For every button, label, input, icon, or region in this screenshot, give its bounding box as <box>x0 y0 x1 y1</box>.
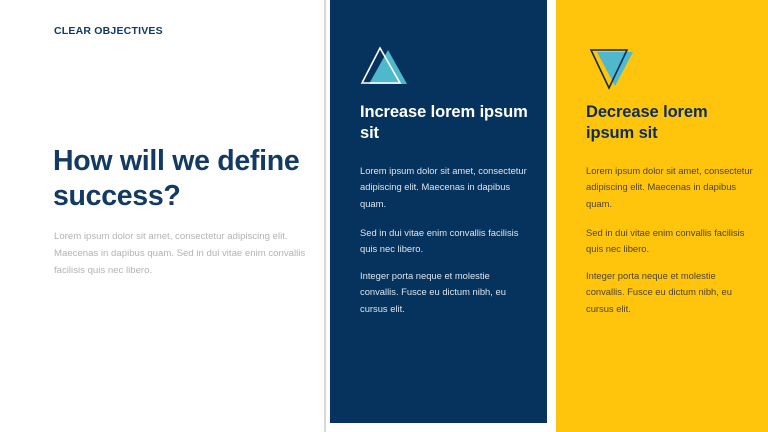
panel-decrease: Decrease lorem ipsum sit Lorem ipsum dol… <box>556 0 768 432</box>
paragraph-text: Lorem ipsum dolor sit amet, consectetur … <box>586 163 756 212</box>
triangle-down-icon <box>586 42 646 94</box>
column-divider <box>324 0 326 432</box>
paragraph-text: Lorem ipsum dolor sit amet, consectetur … <box>360 163 530 212</box>
page-title: How will we define success? <box>53 144 313 214</box>
eyebrow-label: CLEAR OBJECTIVES <box>54 25 163 38</box>
panel-increase-title: Increase lorem ipsum sit <box>360 102 532 143</box>
paragraph-text: Sed in dui vitae enim convallis facilisi… <box>586 225 756 258</box>
slide-canvas: CLEAR OBJECTIVES How will we define succ… <box>0 0 768 432</box>
paragraph-text: Integer porta neque et molestie convalli… <box>586 268 756 317</box>
paragraph-text: Sed in dui vitae enim convallis facilisi… <box>360 225 530 258</box>
panel-increase-paragraph-3: Integer porta neque et molestie convalli… <box>360 268 530 317</box>
panel-decrease-paragraph-1: Lorem ipsum dolor sit amet, consectetur … <box>586 163 756 212</box>
panel-increase-paragraph-1: Lorem ipsum dolor sit amet, consectetur … <box>360 163 530 212</box>
panel-increase-paragraph-2: Sed in dui vitae enim convallis facilisi… <box>360 225 530 258</box>
left-column: CLEAR OBJECTIVES How will we define succ… <box>0 0 324 432</box>
panel-decrease-paragraph-2: Sed in dui vitae enim convallis facilisi… <box>586 225 756 258</box>
intro-paragraph: Lorem ipsum dolor sit amet, consectetur … <box>54 228 316 279</box>
panel-decrease-title: Decrease lorem ipsum sit <box>586 102 758 143</box>
panel-decrease-paragraph-3: Integer porta neque et molestie convalli… <box>586 268 756 317</box>
paragraph-text: Integer porta neque et molestie convalli… <box>360 268 530 317</box>
panel-increase: Increase lorem ipsum sit Lorem ipsum dol… <box>330 0 547 423</box>
triangle-up-icon <box>360 42 420 94</box>
